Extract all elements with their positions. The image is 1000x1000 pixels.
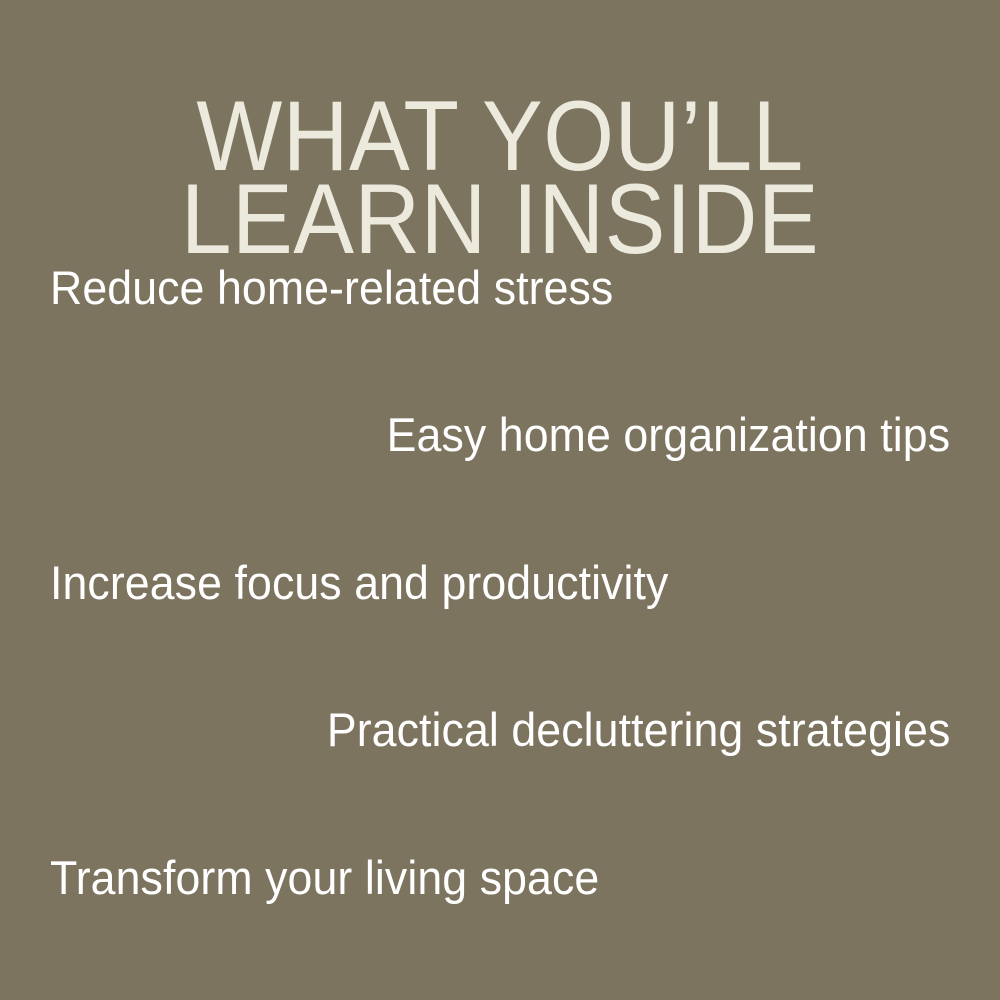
benefit-text: Reduce home-related stress	[50, 256, 613, 320]
list-item: Reduce home-related stress	[50, 256, 950, 320]
list-item: Transform your living space	[50, 846, 950, 910]
list-item: Practical decluttering strategies	[50, 698, 950, 762]
benefit-text: Increase focus and productivity	[50, 551, 668, 615]
benefit-text: Easy home organization tips	[387, 403, 950, 467]
poster-canvas: WHAT YOU’LL LEARN INSIDE Reduce home-rel…	[0, 0, 1000, 1000]
benefit-text: Practical decluttering strategies	[326, 698, 950, 762]
benefit-list: Reduce home-related stress Easy home org…	[0, 0, 1000, 1000]
benefit-text: Transform your living space	[50, 846, 599, 910]
list-item: Easy home organization tips	[50, 403, 950, 467]
list-item: Increase focus and productivity	[50, 551, 950, 615]
